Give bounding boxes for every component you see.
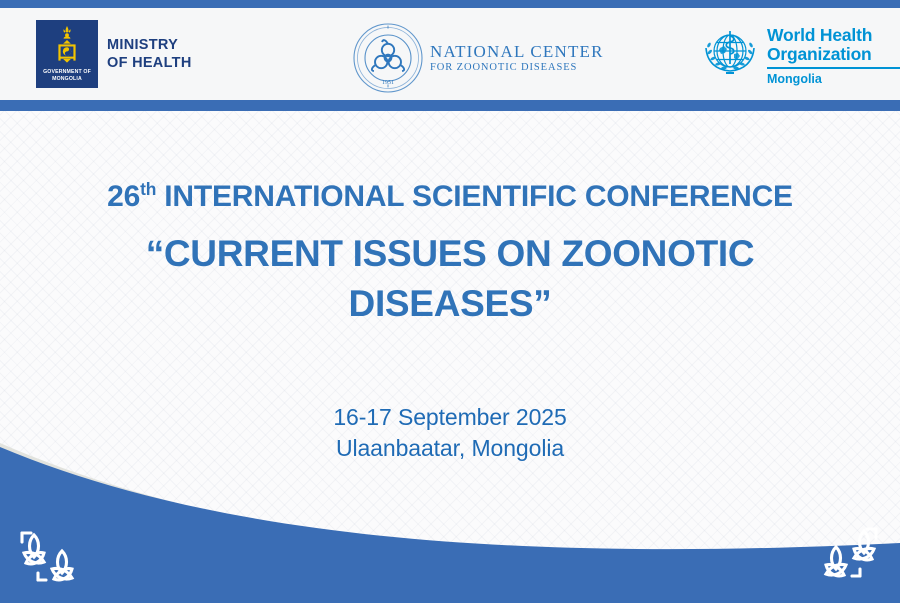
triquetra-knot-icon-left [16, 529, 90, 585]
who-name-line2: Organization [767, 45, 900, 64]
conference-title-slide: GOVERNMENT OF MONGOLIA MINISTRY OF HEALT… [0, 0, 900, 603]
ministry-name-line1: MINISTRY [107, 36, 192, 54]
national-center-name-line1: NATIONAL CENTER [430, 42, 604, 61]
zoonotic-seal-icon: 1951 [352, 22, 424, 94]
seal-year: 1951 [382, 80, 394, 86]
conference-number: 26 [107, 180, 140, 213]
soyombo-icon [52, 25, 82, 67]
emblem-caption-line2: MONGOLIA [36, 76, 98, 83]
emblem-caption: GOVERNMENT OF MONGOLIA [36, 69, 98, 83]
page-title-line2: DISEASES” [100, 279, 800, 329]
conference-ordinal: th [140, 179, 156, 199]
page-title-line1: “CURRENT ISSUES ON ZOONOTIC [100, 229, 800, 279]
ministry-of-health-logo: GOVERNMENT OF MONGOLIA MINISTRY OF HEALT… [36, 20, 192, 88]
who-wordmark: World Health Organization Mongolia [767, 26, 900, 86]
footer-wave [0, 443, 900, 603]
who-name-line1: World Health [767, 26, 900, 45]
ministry-name-line2: OF HEALTH [107, 54, 192, 72]
national-center-name: NATIONAL CENTER FOR ZOONOTIC DISEASES [430, 42, 604, 75]
who-emblem-icon [700, 24, 760, 84]
event-date: 16-17 September 2025 [0, 402, 900, 433]
page-title: “CURRENT ISSUES ON ZOONOTIC DISEASES” [100, 229, 800, 329]
who-country: Mongolia [767, 72, 900, 86]
logo-row: GOVERNMENT OF MONGOLIA MINISTRY OF HEALT… [0, 8, 900, 100]
who-divider [767, 67, 900, 69]
emblem-caption-line1: GOVERNMENT OF [36, 69, 98, 76]
top-accent-bar [0, 0, 900, 8]
who-logo: World Health Organization Mongolia [700, 24, 900, 86]
header-accent-bar [0, 100, 900, 111]
triquetra-knot-icon-right [808, 525, 882, 581]
conference-number-line: 26th INTERNATIONAL SCIENTIFIC CONFERENCE [0, 179, 900, 215]
wave-fill [0, 447, 900, 603]
conference-label: INTERNATIONAL SCIENTIFIC CONFERENCE [156, 180, 793, 213]
mongolia-government-emblem: GOVERNMENT OF MONGOLIA [36, 20, 98, 88]
national-center-name-line2: FOR ZOONOTIC DISEASES [430, 61, 604, 75]
ministry-name: MINISTRY OF HEALTH [107, 36, 192, 72]
national-center-logo: 1951 NATIONAL CENTER FOR ZOONOTIC DISEAS… [352, 22, 604, 94]
